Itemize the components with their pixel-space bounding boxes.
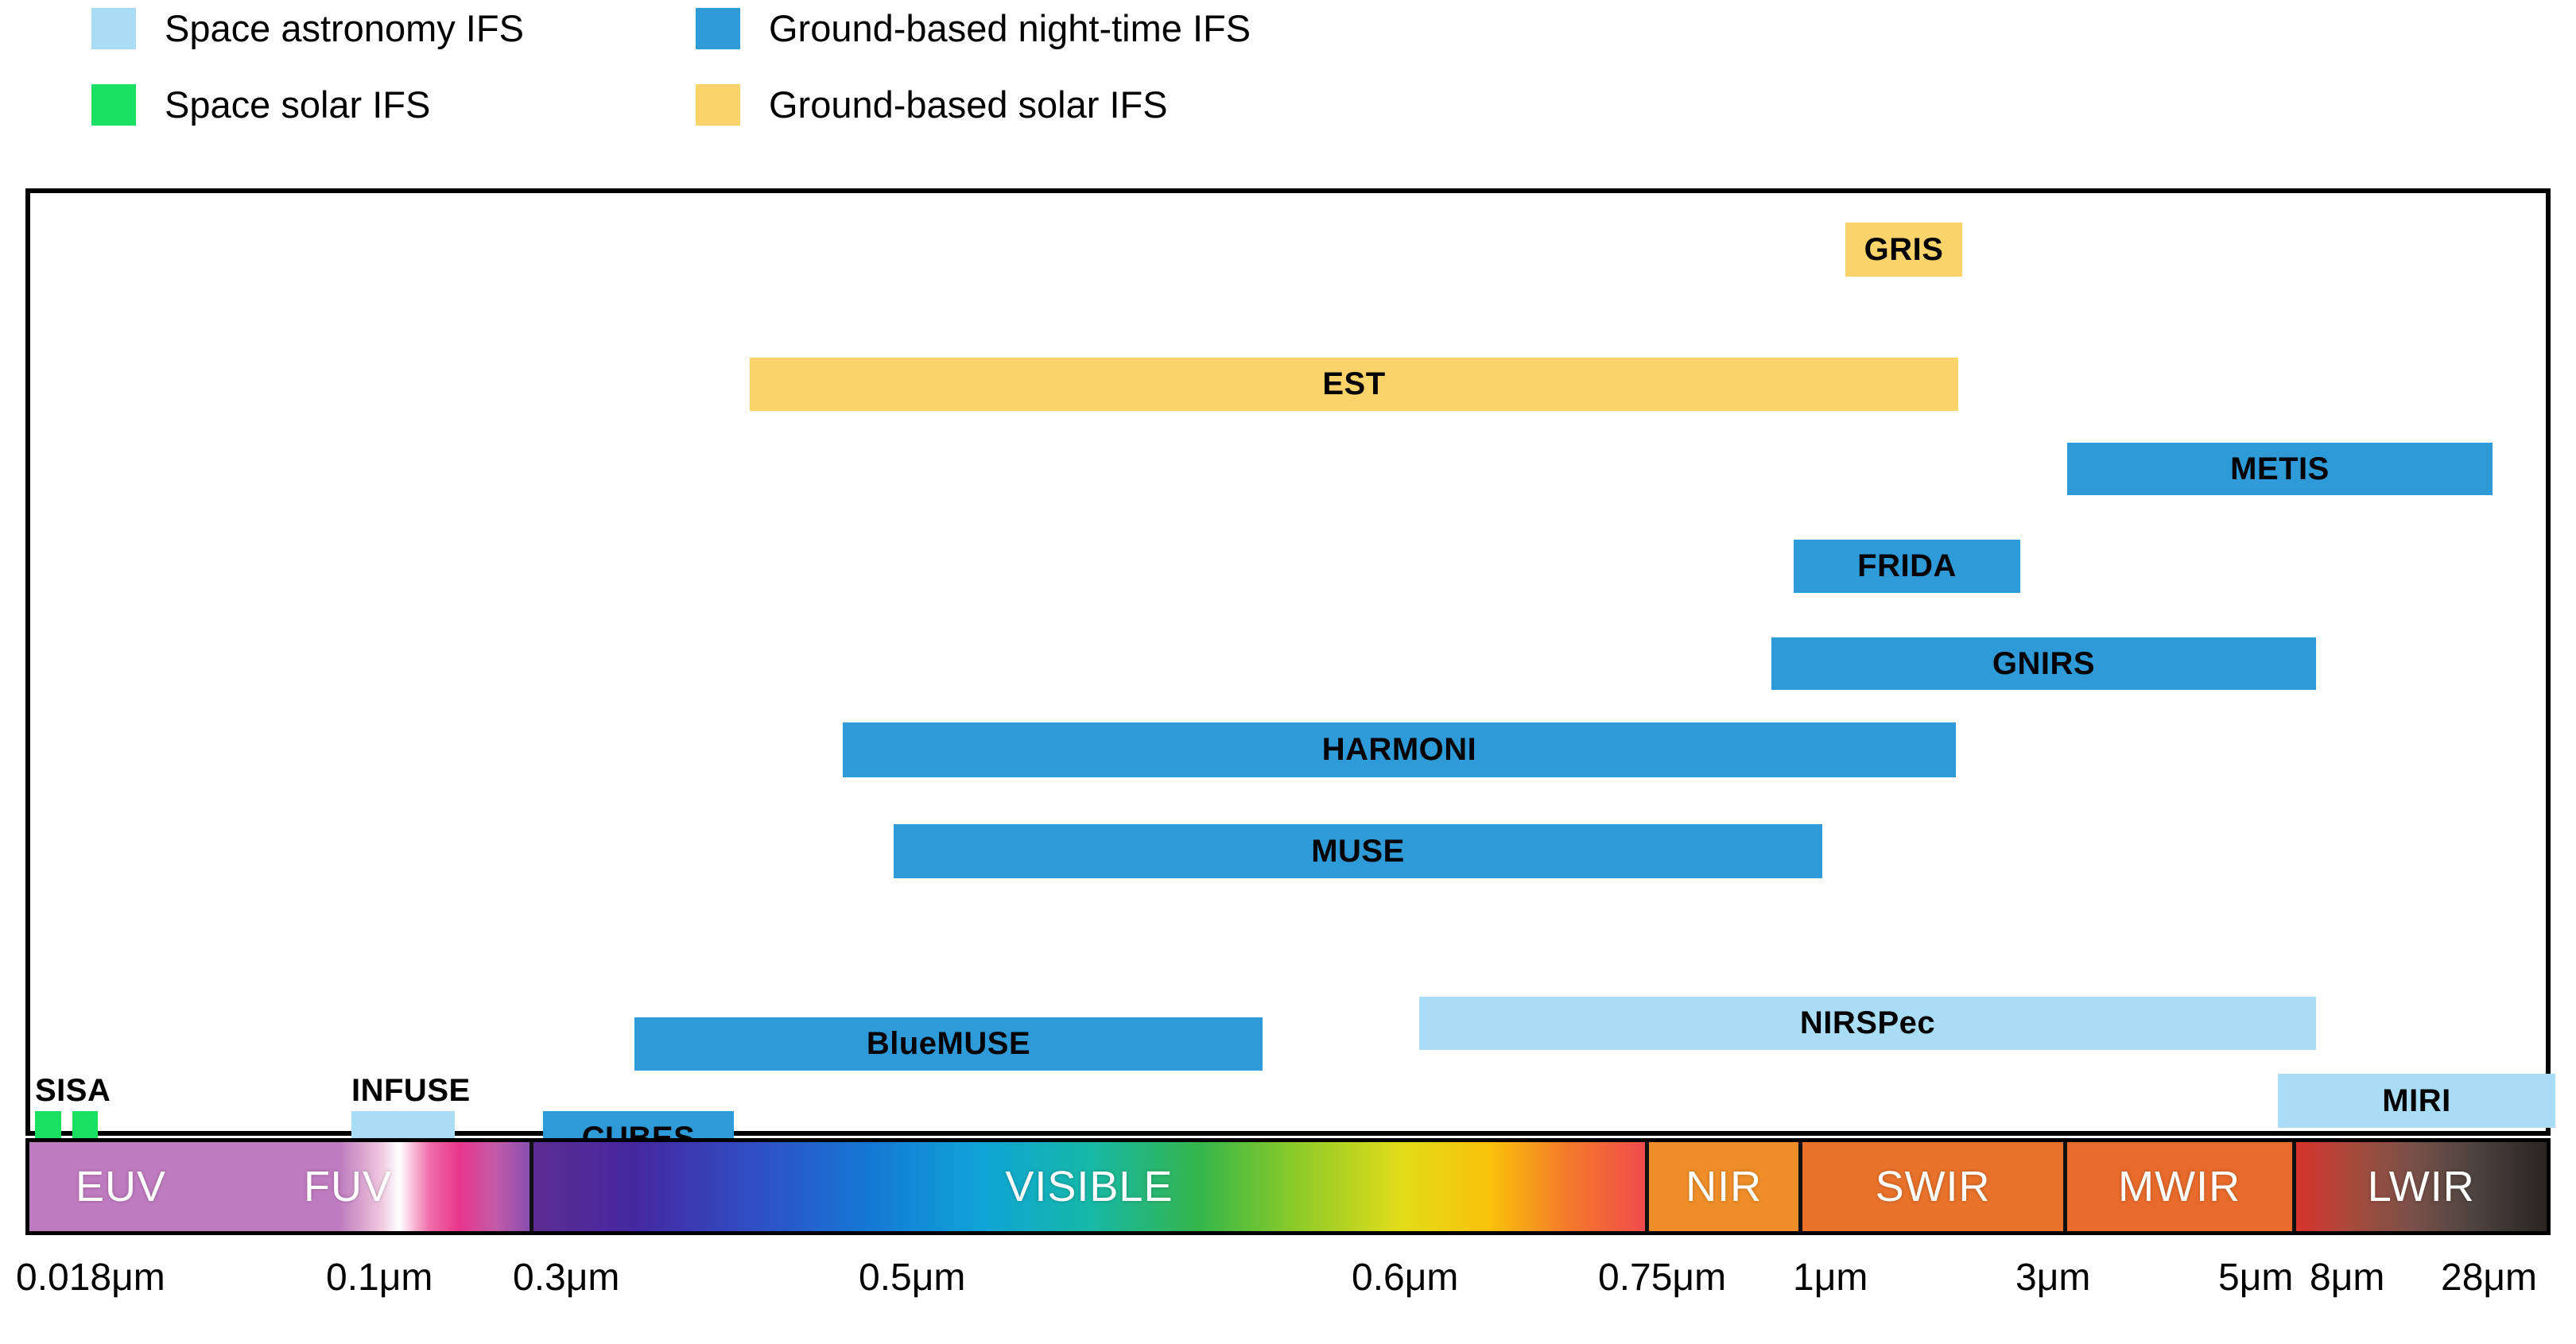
axis-tick-0: 0.018μm (16, 1256, 165, 1299)
spectrum-label-lwir: LWIR (2368, 1162, 2475, 1211)
instrument-bar-gris[interactable]: GRIS (1845, 223, 1962, 277)
legend-swatch-space-astronomy-icon (91, 8, 136, 49)
instrument-bar-frida[interactable]: FRIDA (1794, 540, 2020, 593)
legend-item-ground-solar: Ground-based solar IFS (696, 83, 1168, 126)
legend-item-space-solar: Space solar IFS (91, 83, 430, 126)
instrument-bars-layer: GRISESTMETISFRIDAGNIRSHARMONIMUSENIRSPec… (30, 193, 2546, 1131)
instrument-bar-label-frida: FRIDA (1857, 548, 1957, 584)
legend: Space astronomy IFS Space solar IFS Grou… (0, 0, 2576, 171)
legend-item-space-astronomy: Space astronomy IFS (91, 6, 524, 50)
instrument-bar-est[interactable]: EST (750, 358, 1958, 411)
spectrum-band-lwir: LWIR (2292, 1142, 2547, 1231)
axis-tick-6: 1μm (1793, 1256, 1868, 1299)
legend-swatch-ground-night-icon (696, 8, 740, 49)
instrument-bar-metis[interactable]: METIS (2067, 443, 2493, 495)
instrument-bar-label-nirspec: NIRSPec (1800, 1005, 1935, 1041)
axis-tick-8: 5μm (2218, 1256, 2293, 1299)
spectrum-band-nir: NIR (1645, 1142, 1799, 1231)
instrument-bar-label-infuse: INFUSE (351, 1073, 471, 1109)
spectrum-band-swir: SWIR (1798, 1142, 2062, 1231)
instrument-bar-label-est: EST (1322, 366, 1385, 402)
spectrum-label-nir: NIR (1686, 1162, 1762, 1211)
instrument-bar-label-miri: MIRI (2382, 1083, 2450, 1119)
spectrum-label-mwir: MWIR (2118, 1162, 2240, 1211)
spectrum-label-fuv: FUV (304, 1162, 392, 1211)
legend-swatch-ground-solar-icon (696, 84, 740, 126)
spectrum-band-uv: EUV FUV (29, 1142, 530, 1231)
axis-tick-3: 0.5μm (859, 1256, 965, 1299)
legend-label-space-astronomy: Space astronomy IFS (165, 6, 524, 50)
instrument-bar-label-metis: METIS (2230, 451, 2330, 487)
axis-tick-5: 0.75μm (1598, 1256, 1726, 1299)
spectrum-label-visible: VISIBLE (1005, 1162, 1173, 1211)
instrument-bar-label-gris: GRIS (1864, 232, 1944, 268)
instrument-bar-muse[interactable]: MUSE (894, 824, 1822, 878)
spectrum-label-euv: EUV (76, 1162, 166, 1211)
axis-tick-labels: 0.018μm0.1μm0.3μm0.5μm0.6μm0.75μm1μm3μm5… (0, 1256, 2576, 1335)
legend-label-ground-solar: Ground-based solar IFS (769, 83, 1168, 126)
plot-frame: GRISESTMETISFRIDAGNIRSHARMONIMUSENIRSPec… (25, 188, 2551, 1136)
axis-tick-1: 0.1μm (326, 1256, 433, 1299)
instrument-bar-gnirs[interactable]: GNIRS (1771, 637, 2316, 690)
instrument-bar-bluemuse[interactable]: BlueMUSE (634, 1017, 1263, 1071)
instrument-bar-nirspec[interactable]: NIRSPec (1419, 997, 2316, 1050)
legend-label-space-solar: Space solar IFS (165, 83, 430, 126)
axis-tick-2: 0.3μm (513, 1256, 619, 1299)
instrument-bar-harmoni[interactable]: HARMONI (843, 722, 1956, 777)
spectrum-bar: EUV FUV VISIBLE NIR SWIR MWIR LWIR (25, 1138, 2551, 1235)
axis-tick-4: 0.6μm (1352, 1256, 1458, 1299)
axis-tick-10: 28μm (2441, 1256, 2537, 1299)
axis-tick-7: 3μm (2015, 1256, 2090, 1299)
instrument-bar-label-harmoni: HARMONI (1322, 732, 1477, 768)
spectrum-band-visible: VISIBLE (530, 1142, 1645, 1231)
instrument-bar-label-gnirs: GNIRS (1992, 646, 2095, 682)
instrument-bar-label-sisa: SISA (35, 1073, 111, 1109)
spectrum-label-swir: SWIR (1876, 1162, 1991, 1211)
legend-swatch-space-solar-icon (91, 84, 136, 126)
spectrum-band-mwir: MWIR (2063, 1142, 2292, 1231)
instrument-bar-miri[interactable]: MIRI (2278, 1074, 2555, 1128)
instrument-bar-label-bluemuse: BlueMUSE (867, 1026, 1030, 1062)
axis-tick-9: 8μm (2310, 1256, 2384, 1299)
instrument-bar-label-muse: MUSE (1311, 834, 1405, 870)
legend-label-ground-night: Ground-based night-time IFS (769, 6, 1251, 50)
legend-item-ground-night: Ground-based night-time IFS (696, 6, 1251, 50)
